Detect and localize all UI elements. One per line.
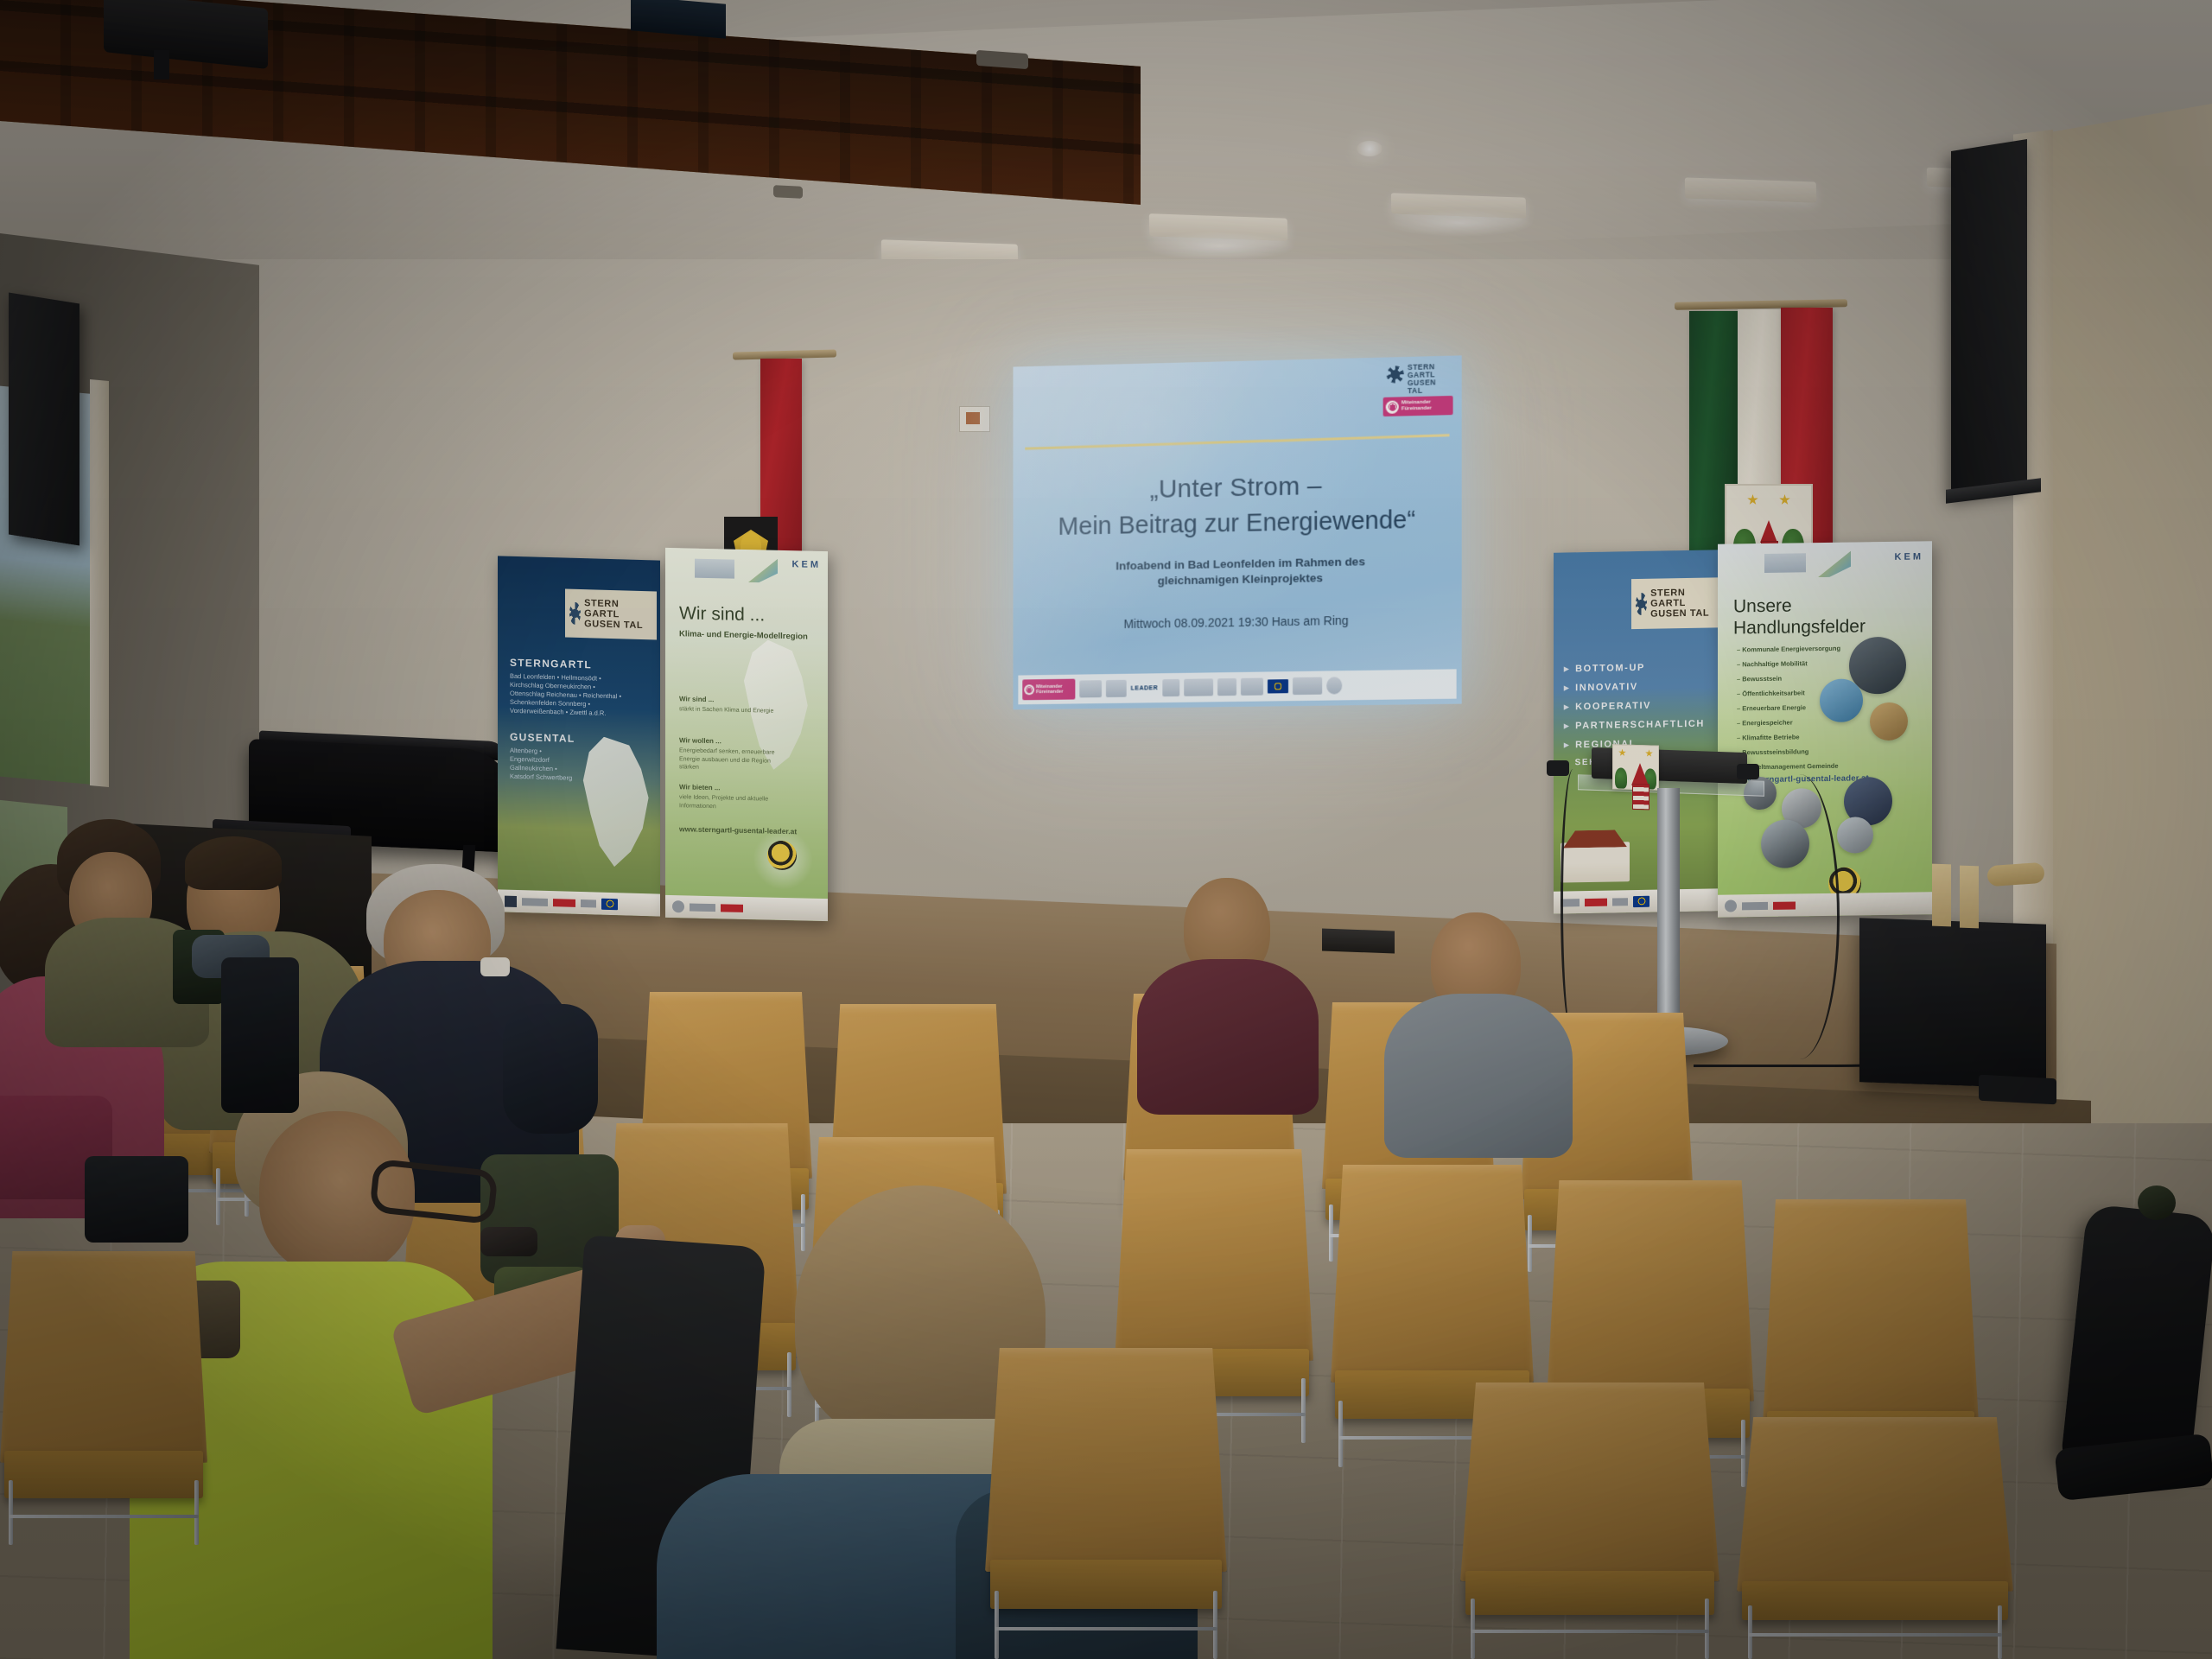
wooden-slat-2 <box>1960 866 1979 929</box>
banner3-item-1: INNOVATIV <box>1564 681 1638 693</box>
banner4-photo-2 <box>1820 678 1863 722</box>
subwoofer <box>1859 918 2046 1089</box>
banner2-logo-a <box>672 900 684 912</box>
wristwatch-icon <box>480 1227 537 1256</box>
sterngartl-mark-icon <box>569 602 581 625</box>
banner2-q3: Wir bieten ... <box>679 783 721 791</box>
window-frame <box>90 379 109 787</box>
eu-flag-icon <box>1633 895 1649 906</box>
banner1-logo-c <box>553 899 575 907</box>
banner4-item-4: Erneuerbare Energie <box>1737 703 1806 712</box>
banner3-logo-text: STERN GARTL GUSEN TAL <box>1650 587 1719 619</box>
banner4-item-3: Öffentlichkeitsarbeit <box>1737 689 1805 697</box>
ceiling-light-3-glow <box>1142 232 1296 261</box>
banner2-a3: viele Ideen, Projekte und aktuelle Infor… <box>679 793 779 812</box>
banner3-item-0: BOTTOM-UP <box>1564 662 1645 675</box>
banner4-heading-line2: Handlungsfelder <box>1733 615 1866 639</box>
banner3-logo: STERN GARTL GUSEN TAL <box>1631 577 1723 629</box>
projection-screen[interactable]: STERN GARTL GUSEN TAL Miteinander Fürein… <box>1013 355 1461 709</box>
lectern-cable-right <box>1759 774 1840 1059</box>
hair <box>185 836 282 890</box>
chair[interactable] <box>1460 1382 1719 1659</box>
banner-wir-sind[interactable]: KEM Wir sind ... Klima- und Energie-Mode… <box>665 548 828 921</box>
banner4-item-1: Nachhaltige Mobilität <box>1737 659 1808 668</box>
black-backpack-floor-right <box>2061 1204 2212 1475</box>
banner2-q1: Wir sind ... <box>679 695 714 703</box>
backpack-top-handle <box>2138 1185 2176 1220</box>
banner1-logo-a <box>505 895 517 906</box>
banner1-logo-d <box>581 899 596 908</box>
banner1-logo: STERN GARTL GUSEN TAL <box>565 589 657 640</box>
banner1-logo-text: STERN GARTL GUSEN TAL <box>584 598 652 631</box>
banner2-logo-strip <box>665 895 828 921</box>
chair[interactable] <box>985 1348 1227 1659</box>
lectern-column <box>1657 788 1680 1039</box>
kem-logo-label: KEM <box>792 559 821 570</box>
kem-logo-label: KEM <box>1895 551 1923 562</box>
ceiling-light-4-glow <box>1384 209 1535 237</box>
torso <box>1384 994 1573 1158</box>
banner4-heading-line1: Unsere <box>1733 594 1866 617</box>
banner1-body-sterngartl: Bad Leonfelden • Hellmonsödt • Kirchschl… <box>510 672 627 719</box>
torso <box>1137 959 1319 1115</box>
bag-on-floor <box>85 1156 188 1243</box>
projector-mount <box>154 50 169 79</box>
banner2-logo-c <box>721 904 743 912</box>
floor-cable-coil <box>1979 1075 2056 1105</box>
banner2-heading: Wir sind ... <box>679 603 765 626</box>
banner2-q2: Wir wollen ... <box>679 736 721 745</box>
banner4-logo-a <box>1725 899 1737 912</box>
banner2-bee-icon <box>767 841 797 871</box>
banner-sterngartl-gusental[interactable]: STERN GARTL GUSEN TAL STERNGARTL Bad Leo… <box>498 556 660 916</box>
wall-speaker-right <box>1951 139 2027 497</box>
wall-plate-icon <box>959 406 990 432</box>
banner4-item-0: Kommunale Energieversorgung <box>1737 645 1840 654</box>
ceiling-vent-icon <box>773 185 803 199</box>
arm <box>503 1004 598 1134</box>
lectern-coat-of-arms-icon <box>1612 744 1659 790</box>
wooden-slat-1 <box>1932 864 1951 927</box>
banner4-item-5: Energiespeicher <box>1737 719 1793 728</box>
screen-glare <box>1013 355 1461 709</box>
chair[interactable] <box>0 1251 207 1545</box>
banner1-region-map-icon <box>577 736 652 868</box>
banner2-a2: Energiebedarf senken, erneuerbare Energi… <box>679 747 779 773</box>
banner3-logo-b <box>1585 898 1607 906</box>
banner4-logo-ministry <box>1764 553 1806 573</box>
banner1-body-gusental: Altenberg • Engerwitzdorf Gallneukirchen… <box>510 747 577 783</box>
banner2-logo-b <box>690 903 715 912</box>
phone-icon[interactable] <box>480 957 510 976</box>
wooden-bench-handle <box>1986 862 2045 887</box>
banner1-heading-sterngartl: STERNGARTL <box>510 657 592 671</box>
sterngartl-mark-icon <box>1636 593 1647 615</box>
stage-monitor-left <box>1322 929 1395 954</box>
lectern-cable-left <box>1560 769 1586 1037</box>
banner2-a1: stärkt in Sachen Klima und Energie <box>679 705 779 715</box>
banner3-logo-c <box>1612 898 1628 906</box>
banner1-logo-b <box>522 898 548 906</box>
banner3-item-3: PARTNERSCHAFTLICH <box>1564 718 1705 732</box>
banner4-item-2: Bewusstsein <box>1737 675 1782 683</box>
eu-flag-icon <box>601 898 618 910</box>
banner4-heading: Unsere Handlungsfelder <box>1733 594 1866 639</box>
banner4-photo-3 <box>1870 702 1908 741</box>
banner4-item-7: Bewusstseinsbildung <box>1737 747 1808 756</box>
banner4-photo-8 <box>1837 817 1873 854</box>
banner4-logo-klimafonds-icon <box>1818 551 1851 578</box>
ceiling-spotlight-icon <box>1357 141 1382 156</box>
banner2-logo-klimafonds-icon <box>748 558 778 583</box>
chair[interactable] <box>1737 1417 2013 1659</box>
banner4-item-6: Klimafitte Betriebe <box>1737 733 1800 741</box>
room-scene: STERN GARTL GUSEN TAL Miteinander Fürein… <box>0 0 2212 1659</box>
wall-speaker-left <box>9 293 79 546</box>
banner3-item-2: KOOPERATIV <box>1564 700 1651 713</box>
banner1-logo-strip <box>498 889 660 916</box>
banner2-logo-ministry <box>695 559 734 579</box>
lectern-mic-clip-right <box>1737 764 1759 779</box>
lectern-mic-clip-left <box>1547 760 1569 776</box>
jacket-on-chair <box>221 957 299 1113</box>
banner1-heading-gusental: GUSENTAL <box>510 731 575 745</box>
banner2-subheading: Klima- und Energie-Modellregion <box>679 629 808 641</box>
